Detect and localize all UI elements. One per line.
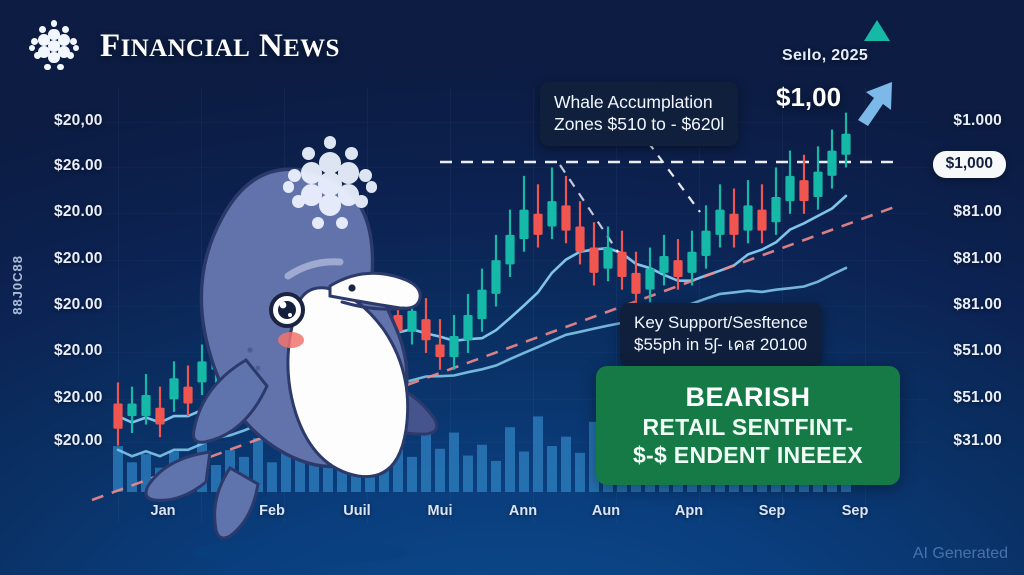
candle bbox=[365, 298, 374, 319]
candle bbox=[337, 302, 346, 323]
y-axis-right-label: $1.000 bbox=[953, 112, 1002, 130]
chart-canvas: FINANCIAL NEWS 88J0C88 $20,00$26.00$20.0… bbox=[0, 0, 1024, 575]
x-axis-label: Aun bbox=[592, 503, 620, 519]
candle bbox=[771, 197, 780, 222]
x-axis-label: Sep bbox=[842, 503, 869, 519]
candle bbox=[617, 252, 626, 277]
arrow-up-right-icon bbox=[852, 78, 900, 128]
y-axis-right-label: $31.00 bbox=[953, 432, 1002, 450]
x-axis-label: Feb bbox=[259, 503, 285, 519]
y-axis-left-label: $20.00 bbox=[54, 250, 103, 268]
candle bbox=[169, 378, 178, 399]
sentiment-line3: $-$ ENDENT INEEEX bbox=[633, 442, 863, 469]
candle bbox=[547, 201, 556, 226]
y-axis-left-label: $20.00 bbox=[54, 389, 103, 407]
x-axis-label: Jan bbox=[151, 503, 176, 519]
candle bbox=[351, 311, 360, 328]
cardano-watermark-icon bbox=[278, 132, 382, 236]
candle bbox=[841, 134, 850, 155]
y-axis-title: 88J0C88 bbox=[10, 255, 25, 315]
x-axis-label: Apn bbox=[675, 503, 703, 519]
x-axis-label: Ann bbox=[509, 503, 537, 519]
support-callout-line2: $55ph in 5ʃ- เคส 20100 bbox=[634, 334, 808, 356]
candle bbox=[211, 349, 220, 370]
candle bbox=[435, 344, 444, 357]
candle bbox=[533, 214, 542, 235]
candle bbox=[687, 252, 696, 273]
candle bbox=[603, 248, 612, 269]
candle bbox=[113, 403, 122, 428]
sentiment-line2: RETAIL SENTFINT- bbox=[643, 414, 854, 441]
x-axis-label: Uuil bbox=[343, 503, 370, 519]
y-axis-right-label: $51.00 bbox=[953, 342, 1002, 360]
whale-callout-line1: Whale Accumplation bbox=[554, 91, 724, 113]
candle bbox=[477, 290, 486, 320]
candle bbox=[197, 361, 206, 382]
candle bbox=[589, 248, 598, 273]
brand-inancial: INANCIAL bbox=[121, 35, 251, 62]
candle bbox=[155, 408, 164, 425]
candle bbox=[183, 387, 192, 404]
candle bbox=[309, 307, 318, 328]
candle bbox=[561, 205, 570, 230]
y-axis-left-label: $20.00 bbox=[54, 203, 103, 221]
candle bbox=[575, 226, 584, 251]
candle bbox=[295, 319, 304, 336]
candle bbox=[281, 315, 290, 336]
brand-f: F bbox=[100, 28, 121, 64]
candle bbox=[127, 403, 136, 416]
candle bbox=[631, 273, 640, 294]
sentiment-index-box[interactable]: BEARISH RETAIL SENTFINT- $-$ ENDENT INEE… bbox=[596, 366, 900, 485]
candle bbox=[407, 311, 416, 332]
key-support-callout[interactable]: Key Support/Sesftence $55ph in 5ʃ- เคส 2… bbox=[620, 303, 822, 366]
candle bbox=[757, 210, 766, 231]
ai-generated-watermark: AI Generated bbox=[913, 545, 1008, 563]
callout-leader-line bbox=[648, 142, 700, 212]
candle bbox=[491, 260, 500, 294]
cardano-dots-icon bbox=[26, 18, 82, 74]
triangle-up-icon bbox=[864, 20, 890, 41]
sentiment-line1: BEARISH bbox=[685, 382, 810, 413]
y-axis-right-label: $81.00 bbox=[953, 296, 1002, 314]
current-price-badge[interactable]: $1,000 bbox=[933, 151, 1006, 178]
candle bbox=[449, 336, 458, 357]
page-title: FINANCIAL NEWS bbox=[100, 28, 340, 65]
y-axis-left-label: $26.00 bbox=[54, 157, 103, 175]
y-axis-left-label: $20.00 bbox=[54, 342, 103, 360]
candle bbox=[505, 235, 514, 265]
candle bbox=[239, 340, 248, 361]
floating-price-label: $1,00 bbox=[776, 82, 841, 113]
candle bbox=[715, 210, 724, 235]
brand-n: N bbox=[259, 28, 283, 64]
candle bbox=[421, 319, 430, 340]
candle bbox=[827, 151, 836, 176]
candle bbox=[645, 269, 654, 290]
y-axis-left-label: $20.00 bbox=[54, 296, 103, 314]
candle bbox=[519, 210, 528, 240]
candle bbox=[253, 323, 262, 344]
candle bbox=[141, 395, 150, 416]
candle bbox=[729, 214, 738, 235]
y-axis-left-label: $20,00 bbox=[54, 112, 103, 130]
y-axis-right-label: $81.00 bbox=[953, 250, 1002, 268]
x-axis-label: Sep bbox=[759, 503, 786, 519]
candle bbox=[379, 307, 388, 324]
candle bbox=[323, 315, 332, 332]
brand-ews: EWS bbox=[283, 35, 340, 62]
candle bbox=[463, 315, 472, 340]
whale-callout-line2: Zones $510 to - $620l bbox=[554, 113, 724, 135]
page-header: FINANCIAL NEWS bbox=[26, 18, 340, 74]
candle bbox=[743, 205, 752, 230]
y-axis-right-label: $81.00 bbox=[953, 203, 1002, 221]
whale-accumulation-callout[interactable]: Whale Accumplation Zones $510 to - $620l bbox=[540, 82, 738, 146]
y-axis-left-label: $20.00 bbox=[54, 432, 103, 450]
candle bbox=[225, 353, 234, 370]
candle bbox=[659, 256, 668, 273]
y-axis-right-label: $51.00 bbox=[953, 389, 1002, 407]
support-callout-line1: Key Support/Sesftence bbox=[634, 312, 808, 334]
candle bbox=[673, 260, 682, 277]
candle bbox=[701, 231, 710, 256]
candle bbox=[393, 315, 402, 332]
candle bbox=[813, 172, 822, 197]
date-label: Seılo, 2025 bbox=[782, 47, 868, 65]
candle bbox=[267, 328, 276, 345]
candle bbox=[785, 176, 794, 201]
candle bbox=[799, 180, 808, 201]
x-axis-label: Mui bbox=[428, 503, 453, 519]
